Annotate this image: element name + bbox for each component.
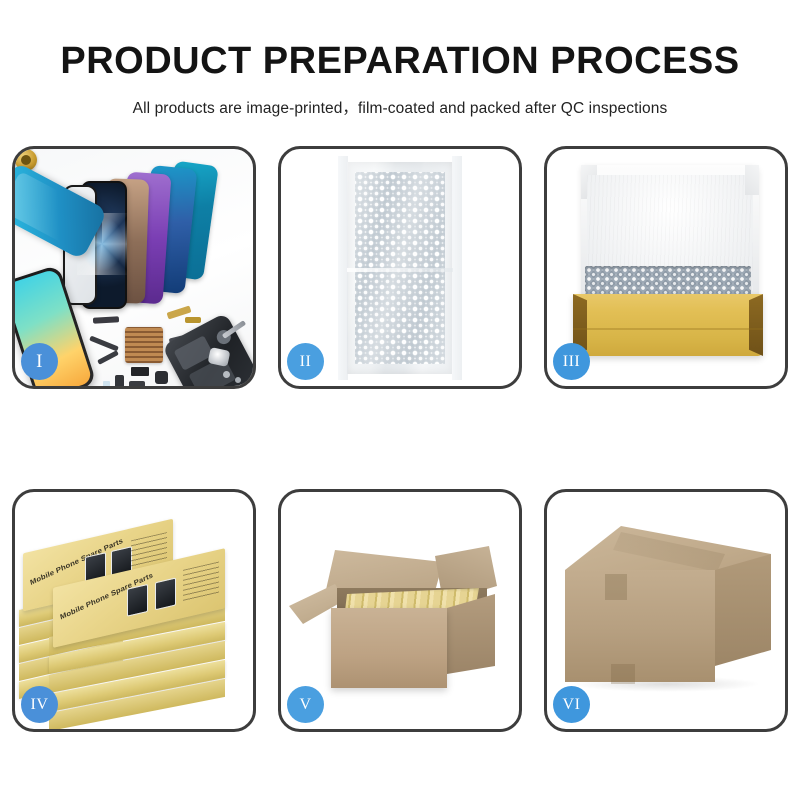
earpiece-icon <box>129 381 145 386</box>
step-panel-2: II <box>278 146 522 389</box>
battery-strip-icon <box>93 316 119 323</box>
flex-cable-icon <box>89 336 119 352</box>
header: PRODUCT PREPARATION PROCESS All products… <box>0 0 800 118</box>
carton-front-panel <box>565 570 715 682</box>
spec-lines <box>183 562 219 604</box>
open-mailer-box-icon <box>573 165 763 356</box>
mailer-front-panel <box>573 294 763 356</box>
step-numeral: V <box>299 696 311 714</box>
carton-front-panel <box>331 608 447 688</box>
step-panel-3: III <box>544 146 788 389</box>
step-numeral: I <box>36 351 43 373</box>
step-panel-4: Mobile Phone Spare Parts Mobile Phone Sp… <box>12 489 256 732</box>
stacked-retail-boxes-icon: Mobile Phone Spare Parts Mobile Phone Sp… <box>19 512 251 712</box>
page-subtitle: All products are image-printed，film-coat… <box>0 96 800 118</box>
step-panel-1: I <box>12 146 256 389</box>
sealed-carton-icon <box>565 526 771 704</box>
step-numeral: VI <box>563 696 581 714</box>
open-shipping-carton-icon <box>303 532 499 700</box>
step-badge-2: II <box>287 343 324 380</box>
camera-module-icon <box>155 371 168 384</box>
process-step-grid: I II <box>12 146 788 732</box>
step-badge-3: III <box>553 343 590 380</box>
step-badge-1: I <box>21 343 58 380</box>
step-badge-5: V <box>287 686 324 723</box>
page-title: PRODUCT PREPARATION PROCESS <box>0 42 800 80</box>
step-numeral: IV <box>31 696 49 714</box>
step-numeral: III <box>563 353 580 371</box>
screen-print-icon <box>155 577 176 610</box>
small-part-icon <box>103 381 110 386</box>
flex-cable-icon <box>97 350 119 365</box>
product-preparation-infographic: PRODUCT PREPARATION PROCESS All products… <box>0 0 800 800</box>
screen-print-icon <box>127 584 148 617</box>
step-badge-4: IV <box>21 686 58 723</box>
gold-connector-icon <box>185 317 201 323</box>
carton-right-panel <box>715 554 771 666</box>
copper-mesh-icon <box>125 327 163 363</box>
button-part-icon <box>115 375 124 386</box>
bubble-wrap-pouch-icon <box>347 162 453 374</box>
step-numeral: II <box>300 353 312 371</box>
step-badge-6: VI <box>553 686 590 723</box>
step-panel-5: V <box>278 489 522 732</box>
chip-icon <box>131 367 149 376</box>
carton-side-panel <box>447 594 495 674</box>
step-panel-6: VI <box>544 489 788 732</box>
screws-and-tools-icon <box>205 325 249 386</box>
